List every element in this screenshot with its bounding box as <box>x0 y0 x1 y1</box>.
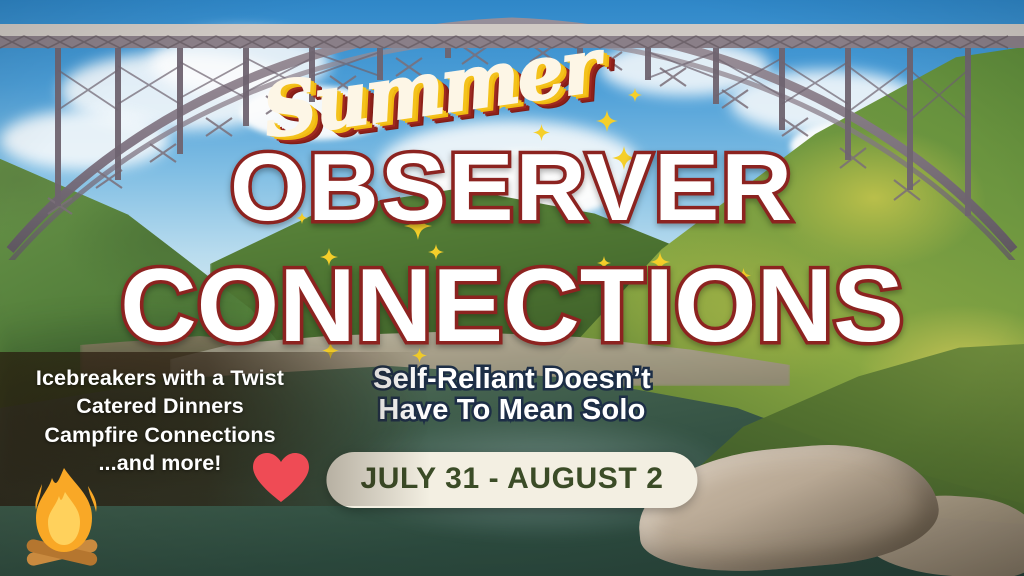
title-line-connections: CONNECTIONS <box>0 254 1024 358</box>
event-poster: Summer OBSERVER CONNECTIONS Self-Reliant… <box>0 0 1024 576</box>
heart-icon <box>252 452 310 504</box>
campfire-icon <box>18 462 110 566</box>
feature-item: Icebreakers with a Twist <box>0 364 320 392</box>
feature-item: Catered Dinners <box>0 392 320 420</box>
feature-item: Campfire Connections <box>0 421 320 449</box>
title-line-observer: OBSERVER <box>0 140 1024 236</box>
script-title-summer: Summer <box>258 29 603 149</box>
